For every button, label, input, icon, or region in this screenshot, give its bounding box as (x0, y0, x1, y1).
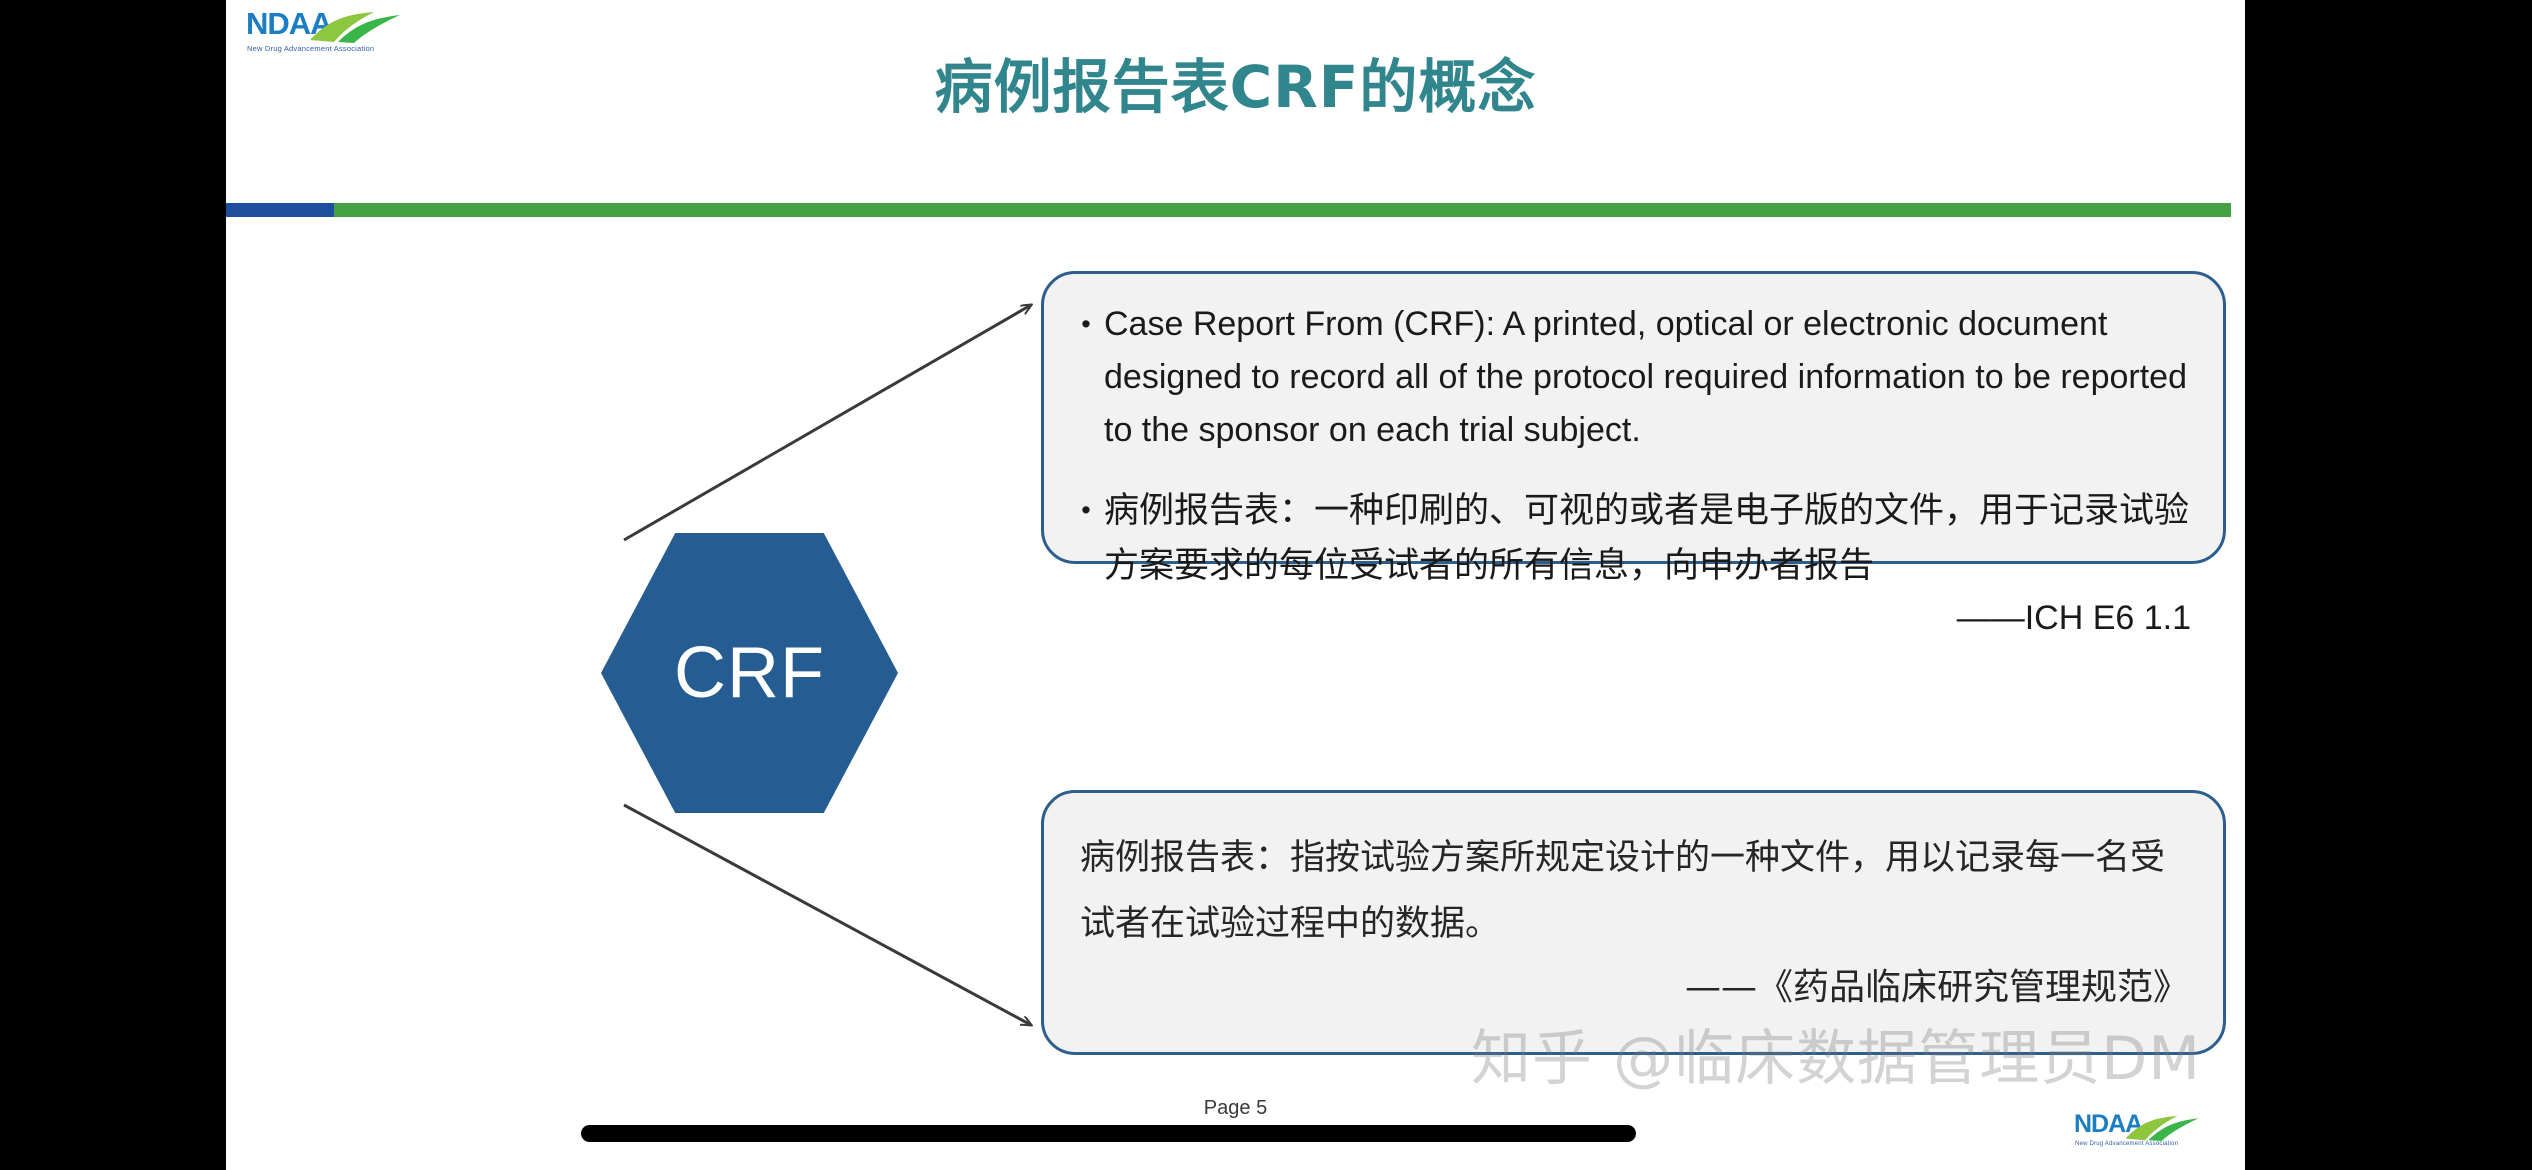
bullet-marker-icon: • (1068, 298, 1104, 350)
crf-hexagon-label: CRF (674, 632, 825, 714)
title-accent-rule (226, 203, 2231, 217)
page-number-label: Page 5 (226, 1097, 2245, 1120)
accent-rule-blue-segment (226, 203, 334, 217)
definition-box-ich[interactable]: • Case Report From (CRF): A printed, opt… (1041, 271, 2226, 564)
arrow-hexagon-to-top-box (624, 305, 1031, 540)
ndaa-swoosh-icon (2124, 1114, 2202, 1142)
ndaa-tagline-text: New Drug Advancement Association (2075, 1141, 2178, 1147)
ndaa-swoosh-icon (308, 10, 404, 44)
page-title: 病例报告表CRF的概念 (226, 40, 2245, 124)
ndaa-logo-footer: NDAA New Drug Advancement Association (2074, 1112, 2204, 1158)
citation-ich-e6: ——ICH E6 1.1 (1957, 599, 2191, 638)
footer-bar (581, 1125, 1636, 1142)
accent-rule-green-segment (334, 203, 2231, 217)
chinese-definition-text-gcp: 病例报告表：指按试验方案所规定设计的一种文件，用以记录每一名受试者在试验过程中的… (1080, 825, 2190, 957)
watermark-text: 知乎 @临床数据管理员DM (1471, 1010, 2201, 1097)
bullet-item-chinese: • 病例报告表：一种印刷的、可视的或者是电子版的文件，用于记录试验方案要求的每位… (1068, 484, 2208, 594)
crf-hexagon-node[interactable]: CRF (601, 533, 898, 813)
bullet-marker-icon: • (1068, 484, 1104, 536)
bullet-item-english: • Case Report From (CRF): A printed, opt… (1068, 298, 2208, 457)
chinese-definition-text: 病例报告表：一种印刷的、可视的或者是电子版的文件，用于记录试验方案要求的每位受试… (1104, 484, 2208, 594)
citation-gcp-regulation: ——《药品临床研究管理规范》 (1685, 958, 2189, 1010)
presentation-slide: NDAA New Drug Advancement Association 病例… (226, 0, 2245, 1170)
screenshot-stage: NDAA New Drug Advancement Association 病例… (0, 0, 2532, 1170)
english-definition-text: Case Report From (CRF): A printed, optic… (1104, 298, 2208, 457)
arrow-hexagon-to-bottom-box (624, 805, 1031, 1025)
